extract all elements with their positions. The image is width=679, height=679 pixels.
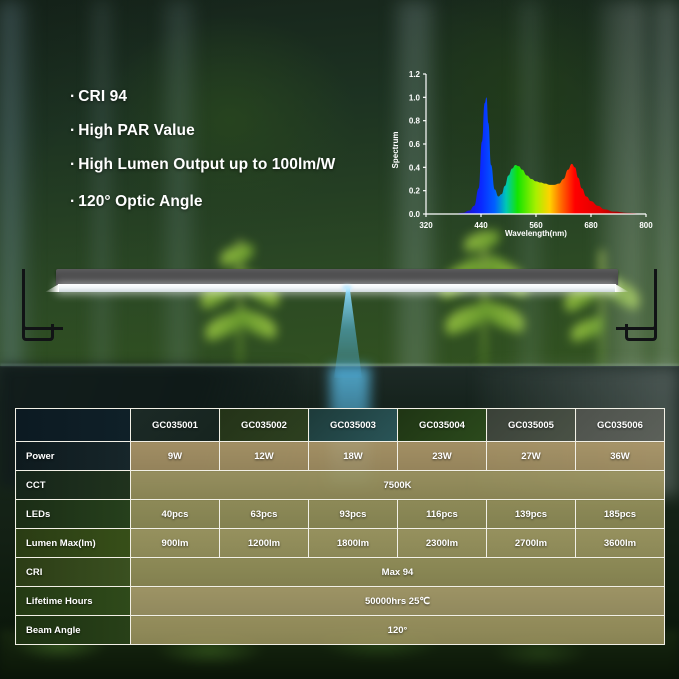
feature-item-label: High Lumen Output up to 100lm/W bbox=[78, 156, 335, 173]
table-cell: 36W bbox=[576, 442, 665, 471]
light-beam bbox=[334, 288, 362, 378]
table-row: CCT7500K bbox=[16, 471, 665, 500]
y-tick-label: 1.0 bbox=[409, 93, 421, 102]
mount-bracket-right bbox=[616, 269, 657, 330]
table-cell: 139pcs bbox=[487, 500, 576, 529]
table-row-label: CRI bbox=[16, 558, 131, 587]
feature-item-label: CRI 94 bbox=[78, 88, 127, 105]
table-cell-merged: 120° bbox=[131, 616, 665, 645]
table-model-header: GC035006 bbox=[576, 409, 665, 442]
x-tick-label: 320 bbox=[419, 221, 433, 230]
table-cell-merged: Max 94 bbox=[131, 558, 665, 587]
table-cell: 40pcs bbox=[131, 500, 220, 529]
table-row-label: CCT bbox=[16, 471, 131, 500]
x-tick-label: 440 bbox=[474, 221, 488, 230]
feature-item-par: ·High PAR Value bbox=[70, 122, 195, 140]
table-cell: 116pcs bbox=[398, 500, 487, 529]
table-model-header: GC035003 bbox=[309, 409, 398, 442]
spectrum-area bbox=[454, 97, 647, 214]
table-row-label: Beam Angle bbox=[16, 616, 131, 645]
table-cell: 18W bbox=[309, 442, 398, 471]
x-tick-label: 800 bbox=[639, 221, 653, 230]
table-cell: 27W bbox=[487, 442, 576, 471]
table-row: Lumen Max(lm)900lm1200lm1800lm2300lm2700… bbox=[16, 529, 665, 558]
table-cell: 63pcs bbox=[220, 500, 309, 529]
bullet-dot-icon: · bbox=[70, 122, 75, 140]
table-row-label: LEDs bbox=[16, 500, 131, 529]
y-tick-label: 0.4 bbox=[409, 163, 421, 172]
light-bar-lens bbox=[58, 284, 616, 292]
y-axis-title: Spectrum bbox=[391, 132, 400, 169]
y-tick-label: 1.2 bbox=[409, 70, 421, 79]
table-row-label: Power bbox=[16, 442, 131, 471]
bullet-dot-icon: · bbox=[70, 193, 75, 211]
spectrum-curve bbox=[454, 97, 647, 214]
y-tick-label: 0.0 bbox=[409, 210, 421, 219]
table-row: Power9W12W18W23W27W36W bbox=[16, 442, 665, 471]
y-tick-label: 0.6 bbox=[409, 140, 421, 149]
bullet-dot-icon: · bbox=[70, 88, 75, 106]
feature-item-optic-angle: ·120° Optic Angle bbox=[70, 193, 203, 211]
feature-item-lumen: ·High Lumen Output up to 100lm/W bbox=[70, 156, 335, 174]
spectrum-chart: 0.00.20.40.60.81.01.2320440560680800 Wav… bbox=[388, 62, 658, 242]
table-row-label: Lifetime Hours bbox=[16, 587, 131, 616]
x-tick-label: 680 bbox=[584, 221, 598, 230]
table-model-header: GC035001 bbox=[131, 409, 220, 442]
mount-bracket-left-foot bbox=[22, 324, 54, 341]
table-cell: 3600lm bbox=[576, 529, 665, 558]
feature-item-label: 120° Optic Angle bbox=[78, 193, 202, 210]
light-bar-housing bbox=[56, 269, 618, 285]
feature-item-cri: ·CRI 94 bbox=[70, 88, 127, 106]
table-cell: 900lm bbox=[131, 529, 220, 558]
table-cell: 1800lm bbox=[309, 529, 398, 558]
table-cell: 9W bbox=[131, 442, 220, 471]
x-axis-title: Wavelength(nm) bbox=[505, 229, 567, 238]
table-model-header: GC035005 bbox=[487, 409, 576, 442]
table-cell: 185pcs bbox=[576, 500, 665, 529]
table-cell: 2300lm bbox=[398, 529, 487, 558]
mount-bracket-right-foot bbox=[625, 324, 657, 341]
table-cell-merged: 7500K bbox=[131, 471, 665, 500]
bullet-dot-icon: · bbox=[70, 156, 75, 174]
specification-table: GC035001GC035002GC035003GC035004GC035005… bbox=[15, 408, 665, 645]
table-cell: 12W bbox=[220, 442, 309, 471]
table-row: Lifetime Hours50000hrs 25℃ bbox=[16, 587, 665, 616]
feature-item-label: High PAR Value bbox=[78, 122, 195, 139]
table-cell-merged: 50000hrs 25℃ bbox=[131, 587, 665, 616]
spectrum-chart-svg: 0.00.20.40.60.81.01.2320440560680800 Wav… bbox=[388, 62, 658, 242]
beam-origin-highlight bbox=[342, 285, 352, 291]
table-header-row: GC035001GC035002GC035003GC035004GC035005… bbox=[16, 409, 665, 442]
table-cell: 93pcs bbox=[309, 500, 398, 529]
y-tick-label: 0.8 bbox=[409, 117, 421, 126]
table-model-header: GC035002 bbox=[220, 409, 309, 442]
table-model-header: GC035004 bbox=[398, 409, 487, 442]
table-cell: 2700lm bbox=[487, 529, 576, 558]
table-row-label: Lumen Max(lm) bbox=[16, 529, 131, 558]
table-row: Beam Angle120° bbox=[16, 616, 665, 645]
led-fixture bbox=[0, 255, 679, 355]
table-cell: 1200lm bbox=[220, 529, 309, 558]
table-row: CRIMax 94 bbox=[16, 558, 665, 587]
product-infographic: ·CRI 94 ·High PAR Value ·High Lumen Outp… bbox=[0, 0, 679, 679]
table-cell: 23W bbox=[398, 442, 487, 471]
table-row: LEDs40pcs63pcs93pcs116pcs139pcs185pcs bbox=[16, 500, 665, 529]
y-tick-label: 0.2 bbox=[409, 187, 421, 196]
table-corner-cell bbox=[16, 409, 131, 442]
